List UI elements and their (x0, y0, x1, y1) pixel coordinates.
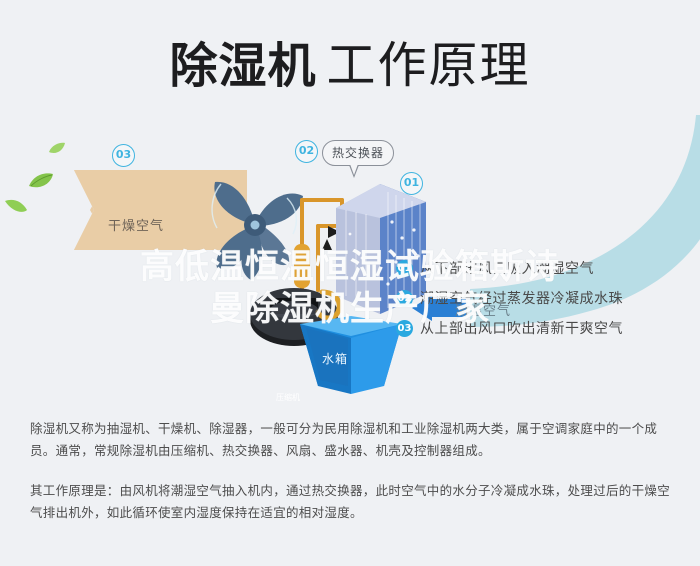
step-text-01: 从下部进风口吸入潮湿空气 (420, 258, 594, 278)
page-title-bold: 除湿机 (169, 38, 316, 94)
water-tank (296, 316, 406, 394)
description-paragraph-2: 其工作原理是：由风机将潮湿空气抽入机内，通过热交换器，此时空气中的水分子冷凝成水… (30, 480, 675, 524)
diagram-badge-03: 03 (112, 144, 135, 167)
step-list: 01 从下部进风口吸入潮湿空气 02 潮湿空气经过蒸发器冷凝成水珠 03 从上部… (396, 253, 696, 343)
leaf-icon (48, 142, 66, 155)
dehumidifier-infographic-page: 除湿机工作原理 干燥空气 (0, 0, 700, 566)
leaf-icon (4, 198, 28, 215)
step-text-03: 从上部出风口吹出清新干爽空气 (420, 318, 623, 338)
page-title: 除湿机工作原理 (0, 26, 700, 97)
description-paragraph-1: 除湿机又称为抽湿机、干燥机、除湿器，一般可分为民用除湿机和工业除湿机两大类，属于… (30, 418, 675, 462)
list-item: 01 从下部进风口吸入潮湿空气 (396, 253, 696, 283)
diagram-badge-02: 02 (295, 140, 318, 163)
leaf-icon (28, 172, 54, 190)
step-text-02: 潮湿空气经过蒸发器冷凝成水珠 (420, 288, 623, 308)
step-badge-02: 02 (396, 290, 413, 307)
list-item: 02 潮湿空气经过蒸发器冷凝成水珠 (396, 283, 696, 313)
description-block: 除湿机又称为抽湿机、干燥机、除湿器，一般可分为民用除湿机和工业除湿机两大类，属于… (30, 418, 675, 524)
list-item: 03 从上部出风口吹出清新干爽空气 (396, 313, 696, 343)
water-tank-label: 水箱 (322, 350, 348, 367)
diagram-badge-01: 01 (400, 172, 423, 195)
dry-air-label: 干燥空气 (108, 215, 164, 234)
step-badge-03: 03 (396, 320, 413, 337)
page-title-light: 工作原理 (327, 37, 531, 94)
heat-exchanger-callout: 热交换器 (322, 140, 394, 166)
step-badge-01: 01 (396, 260, 413, 277)
